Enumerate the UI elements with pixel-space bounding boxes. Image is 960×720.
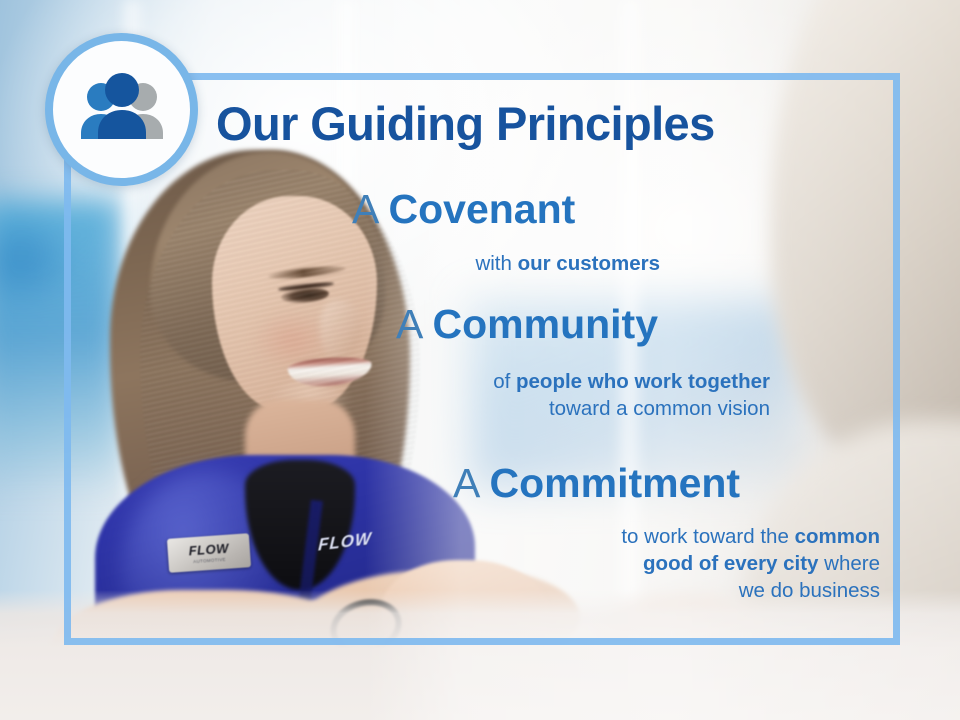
guiding-principles-banner: FLOW FLOW AUTOMOTIVE Our Guidin [0,0,960,720]
subtext-line: with our customers [300,250,660,277]
subtext-run: of [493,370,516,393]
principle-article: A [396,301,421,347]
principle-word: Covenant [389,186,576,232]
subtext-run: where [818,552,880,575]
subtext-line: to work toward the common [440,523,880,550]
subtext-line: we do business [440,577,880,604]
subtext-line: toward a common vision [380,395,770,422]
principle-subtext-community: of people who work togethertoward a comm… [380,368,770,422]
principle-subtext-covenant: with our customers [300,250,660,277]
subtext-run: we do business [739,579,880,602]
group-people-icon [74,72,170,148]
subtext-run: common [795,525,880,548]
subtext-run: good of every city [643,552,818,575]
principle-title-commitment: A Commitment [453,462,740,505]
subtext-line: good of every city where [440,550,880,577]
subtext-run: to work toward the [621,525,794,548]
principle-article: A [352,186,377,232]
group-icon-badge [45,33,198,186]
subtext-line: of people who work together [380,368,770,395]
principle-word: Commitment [490,460,741,506]
principle-subtext-commitment: to work toward the commongood of every c… [440,523,880,604]
principle-title-community: A Community [396,303,658,346]
subtext-run: toward a common vision [549,397,770,420]
principle-title-covenant: A Covenant [352,188,575,231]
subtext-run: people who work together [516,370,770,393]
subtext-run: our customers [518,252,660,275]
subtext-run: with [475,252,517,275]
principle-word: Community [433,301,659,347]
page-title: Our Guiding Principles [216,96,715,151]
principle-article: A [453,460,478,506]
